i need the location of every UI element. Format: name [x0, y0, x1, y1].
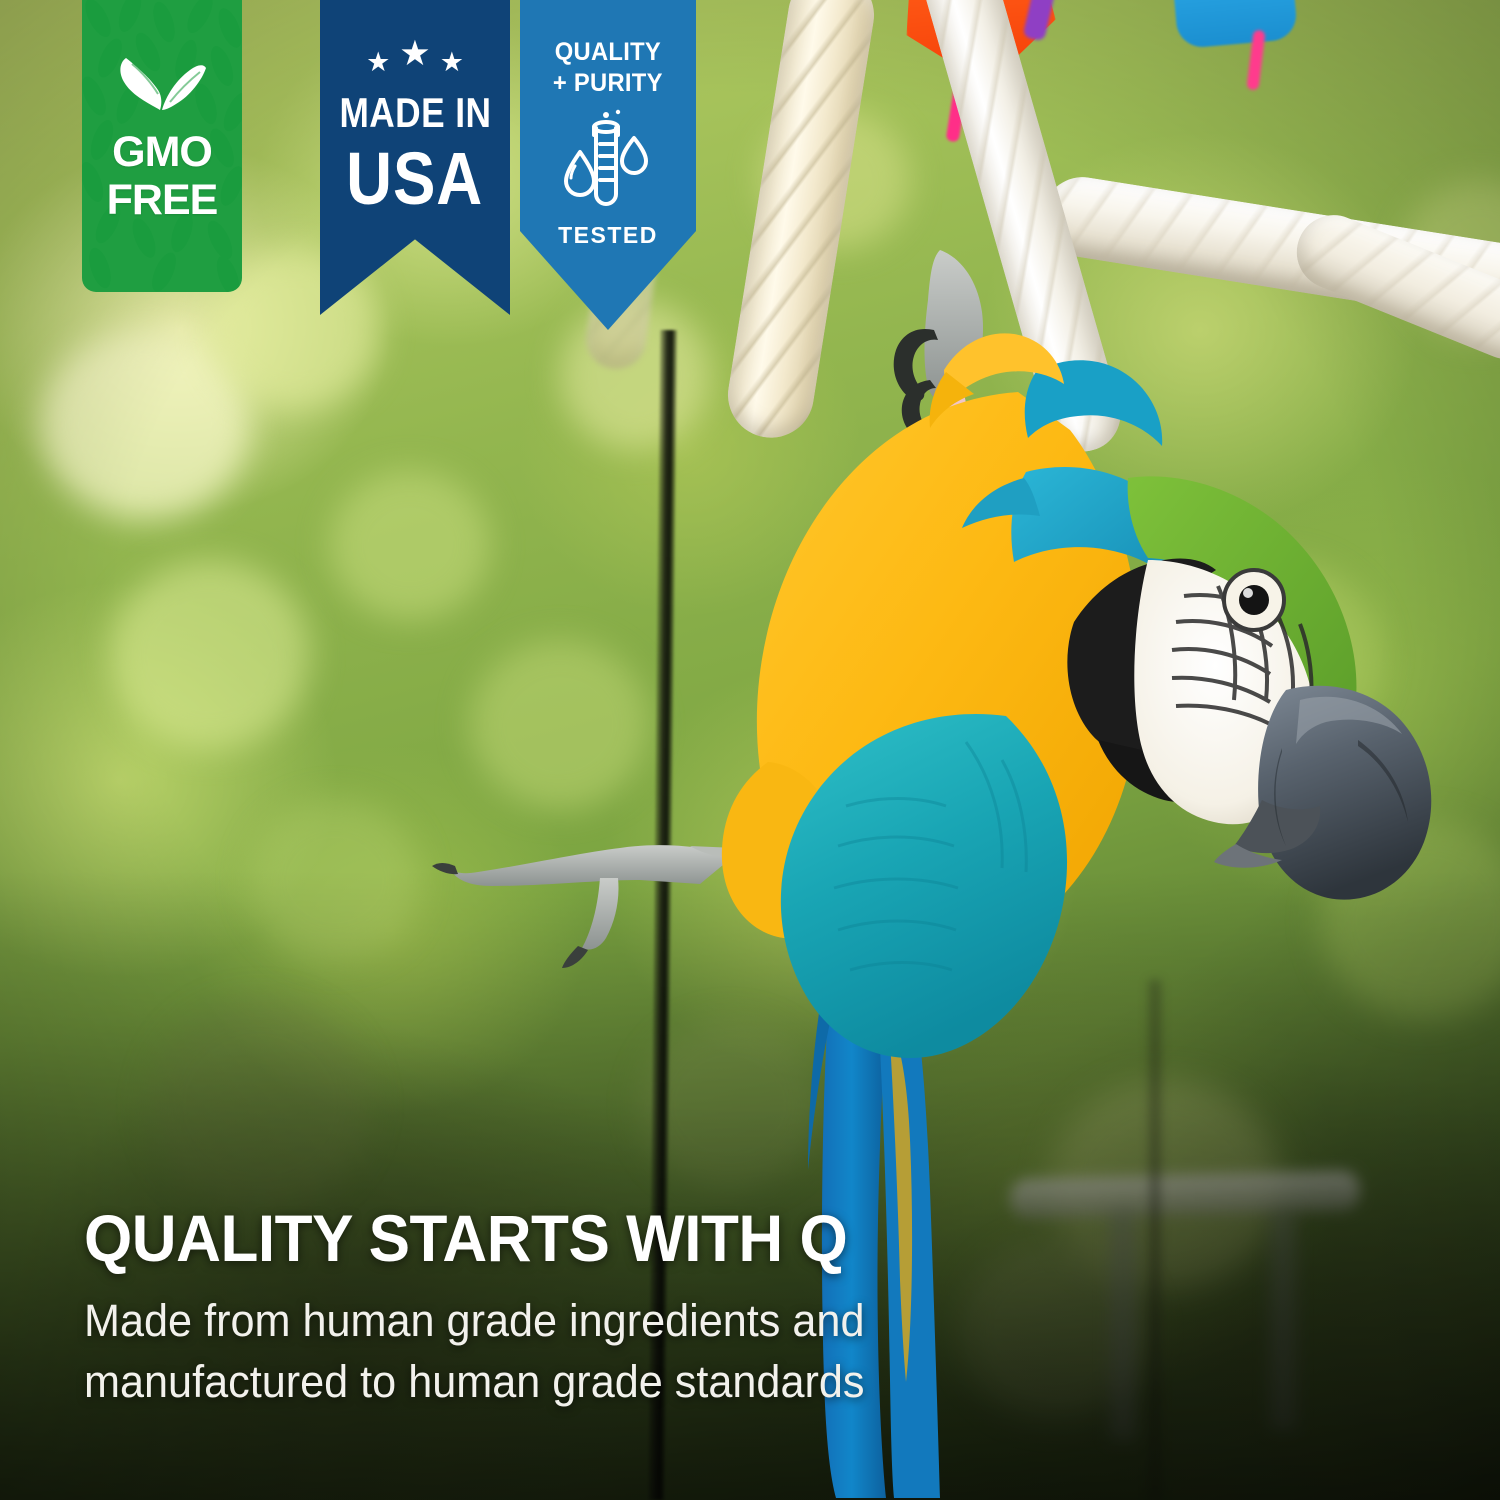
product-lifestyle-image: GMO FREE ★ ★ ★ MADE IN USA QUALITY + PUR… [0, 0, 1500, 1500]
badge-usa-line2: USA [347, 142, 484, 216]
badge-gmo-line2: FREE [107, 179, 218, 222]
badge-qp-line1: QUALITY [555, 40, 661, 65]
three-stars-icon: ★ ★ ★ [366, 36, 464, 76]
badge-gmo-free[interactable]: GMO FREE [82, 0, 242, 292]
caption-block: QUALITY STARTS WITH Q Made from human gr… [84, 1205, 1084, 1412]
badge-qp-line3: TESTED [558, 224, 658, 247]
caption-subline-2: manufactured to human grade standards [84, 1352, 1044, 1412]
leaf-sprout-icon [116, 52, 208, 114]
macaw-eye [1224, 570, 1284, 630]
test-tube-droplets-icon [560, 108, 656, 212]
badge-qp-line2: + PURITY [553, 71, 663, 96]
caption-headline: QUALITY STARTS WITH Q [84, 1205, 1024, 1271]
macaw-left-foot [432, 845, 736, 968]
badge-usa-line1: MADE IN [339, 92, 491, 134]
caption-subline-1: Made from human grade ingredients and [84, 1291, 1044, 1351]
badge-gmo-line1: GMO [112, 131, 212, 174]
